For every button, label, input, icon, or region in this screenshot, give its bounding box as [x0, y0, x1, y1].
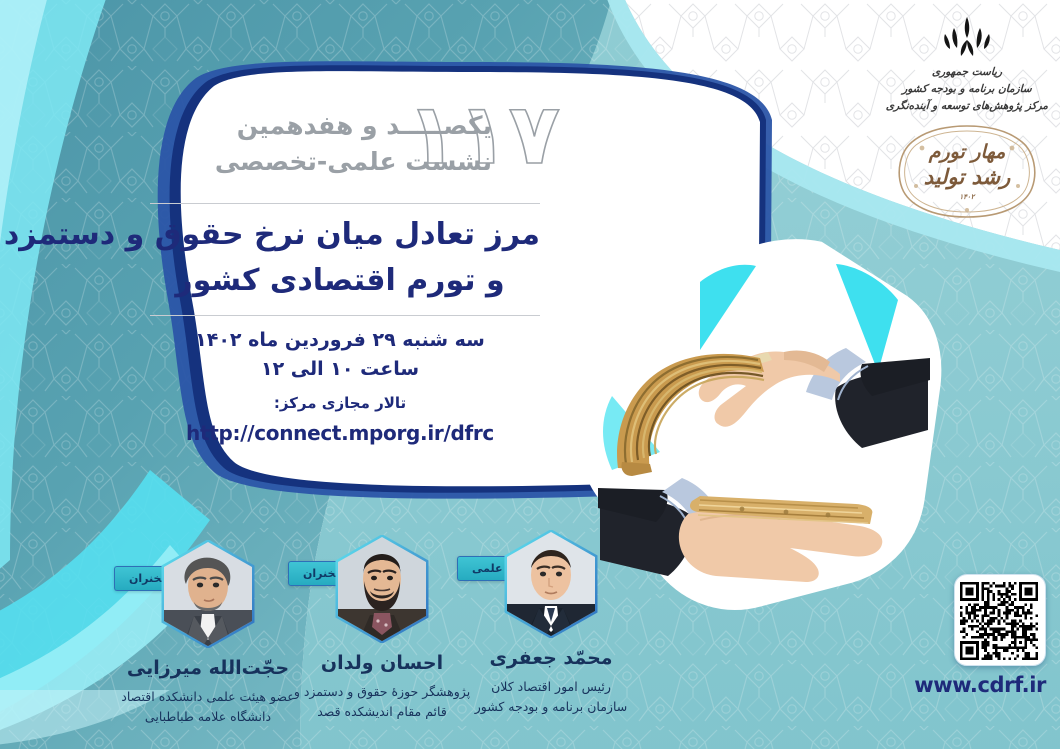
venue-label: تالار مجازی مرکز:	[140, 392, 540, 415]
speaker-role-line2-2: سازمان برنامه و بودجه کشور	[456, 697, 646, 717]
qr-and-website-block: www.cdrf.ir	[914, 574, 1046, 697]
speaker-card-0: سخنران	[113, 540, 303, 727]
slogan-year: ۱۴۰۲	[959, 193, 974, 201]
website-url[interactable]: www.cdrf.ir	[914, 673, 1046, 697]
speaker-name-1: احسان ولدان	[287, 651, 477, 677]
schedule-block: سه شنبه ۲۹ فروردین ماه ۱۴۰۲ ساعت ۱۰ الی …	[140, 326, 540, 383]
emblem-line-2: سازمان برنامه و بودجه کشور	[882, 81, 1053, 98]
speaker-name-0: حجّت‌الله میرزایی	[113, 656, 303, 682]
slogan-line-1: مهار تورم	[929, 142, 1006, 164]
speaker-card-2: مدیر علمی	[456, 530, 646, 717]
title-line-1: مرز تعادل میان نرخ حقوق و دستمزد	[140, 212, 540, 258]
speaker-card-1: سخنران	[287, 535, 477, 722]
organization-name-lines: ریاست جمهوری سازمان برنامه و بودجه کشور …	[882, 64, 1052, 115]
event-date: سه شنبه ۲۹ فروردین ماه ۱۴۰۲	[140, 326, 540, 355]
issue-number: ۱۱۷	[406, 92, 560, 176]
speaker-avatar-1	[334, 535, 430, 643]
organization-emblem-block: ریاست جمهوری سازمان برنامه و بودجه کشور …	[882, 14, 1052, 115]
title-divider-top	[150, 203, 540, 204]
slogan-line-2: رشد تولید	[924, 165, 1011, 189]
emblem-line-1: ریاست جمهوری	[882, 64, 1053, 81]
speaker-role-line1-1: پژوهشگر حوزهٔ حقوق و دستمزد و	[287, 682, 477, 702]
speaker-avatar-0	[160, 540, 256, 648]
qr-code-card[interactable]	[954, 574, 1046, 666]
speaker-role-line1-2: رئیس امور اقتصاد کلان	[456, 677, 646, 697]
speaker-avatar-2	[503, 530, 599, 638]
event-time: ساعت ۱۰ الی ۱۲	[140, 355, 540, 384]
venue-link[interactable]: http://connect.mporg.ir/dfrc	[140, 418, 540, 448]
speaker-role-2: رئیس امور اقتصاد کلان سازمان برنامه و بو…	[456, 677, 646, 718]
year-slogan-medallion: مهار تورم رشد تولید ۱۴۰۲	[892, 122, 1042, 222]
qr-code-icon[interactable]	[960, 582, 1038, 660]
title-divider-bottom	[150, 315, 540, 316]
title-line-2: و تورم اقتصادی کشور	[140, 258, 540, 304]
slogan-text: مهار تورم رشد تولید ۱۴۰۲	[892, 122, 1042, 222]
page-title: مرز تعادل میان نرخ حقوق و دستمزد و تورم …	[140, 212, 540, 303]
speaker-photo-wrap-2: مدیر علمی	[503, 530, 599, 638]
speaker-role-1: پژوهشگر حوزهٔ حقوق و دستمزد و قائم مقام …	[287, 682, 477, 723]
iran-national-emblem-icon	[941, 14, 993, 60]
event-poster: یکصـــــد و هفدهمین نشست علمی-تخصصی ۱۱۷ …	[0, 0, 1060, 749]
speaker-role-0: عضو هیئت علمی دانشکده اقتصاد دانشگاه علا…	[113, 687, 303, 728]
speaker-photo-wrap-1: سخنران	[334, 535, 430, 643]
venue-block: تالار مجازی مرکز: http://connect.mporg.i…	[140, 392, 540, 448]
speaker-name-2: محمّد جعفری	[456, 646, 646, 672]
speaker-photo-wrap-0: سخنران	[160, 540, 256, 648]
speaker-role-line2-1: قائم مقام اندیشکده قصد	[287, 702, 477, 722]
speaker-role-line1-0: عضو هیئت علمی دانشکده اقتصاد	[113, 687, 303, 707]
emblem-line-3: مرکز پژوهش‌های توسعه و آینده‌نگری	[882, 98, 1053, 115]
speaker-role-line2-0: دانشگاه علامه طباطبایی	[113, 707, 303, 727]
